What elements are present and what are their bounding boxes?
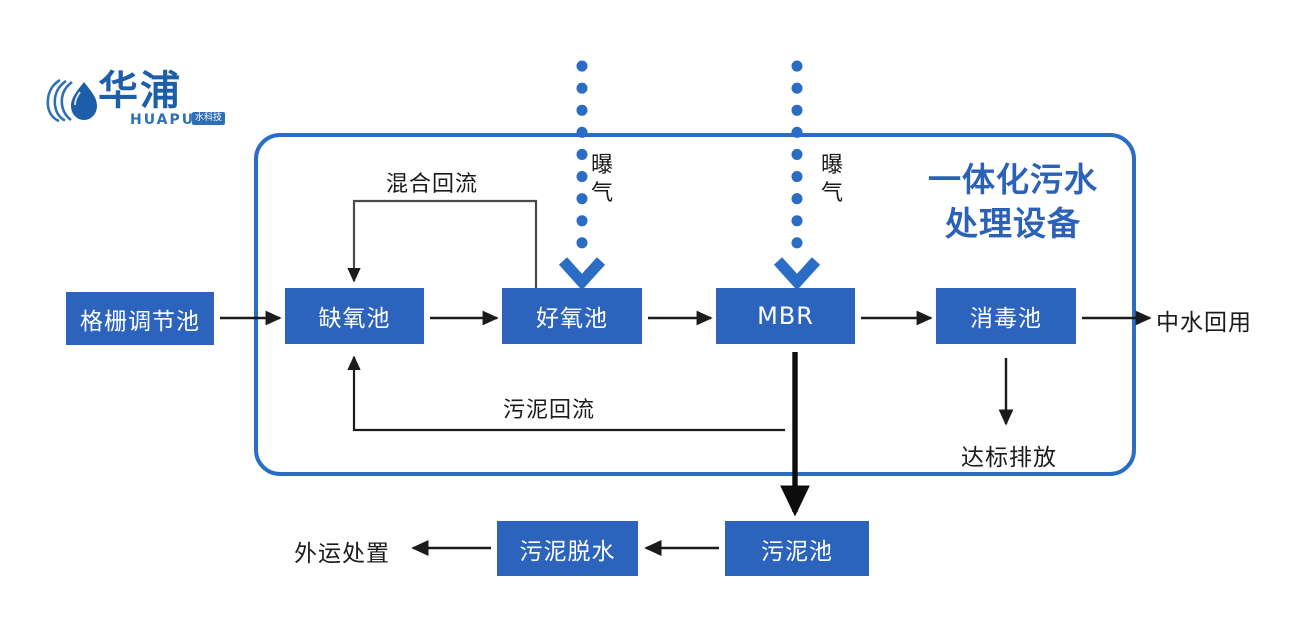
node-aerobic-tank[interactable]: 好氧池 xyxy=(502,288,642,344)
node-disinfection-tank[interactable]: 消毒池 xyxy=(936,288,1076,344)
diagram-canvas: 华浦 HUAPU 水科技 一体化污水处理设备 xyxy=(0,0,1315,636)
label-aeration-2: 曝气 xyxy=(820,152,844,208)
label-compliant-discharge: 达标排放 xyxy=(961,438,1057,472)
label-mixed-reflux: 混合回流 xyxy=(386,166,478,198)
label-sludge-return: 污泥回流 xyxy=(503,392,595,424)
node-grille-regulation-tank[interactable]: 格栅调节池 xyxy=(66,292,214,345)
node-mbr[interactable]: MBR xyxy=(716,288,855,344)
node-sludge-dewatering[interactable]: 污泥脱水 xyxy=(497,521,638,576)
label-aeration-1: 曝气 xyxy=(590,152,614,208)
label-reclaimed-water-reuse: 中水回用 xyxy=(1156,303,1252,337)
arrow-mixed-reflux xyxy=(354,201,536,288)
aeration-dotted-line-2 xyxy=(778,66,816,282)
label-offsite-disposal: 外运处置 xyxy=(294,534,390,568)
node-anoxic-tank[interactable]: 缺氧池 xyxy=(285,288,424,344)
node-sludge-tank[interactable]: 污泥池 xyxy=(725,521,869,576)
